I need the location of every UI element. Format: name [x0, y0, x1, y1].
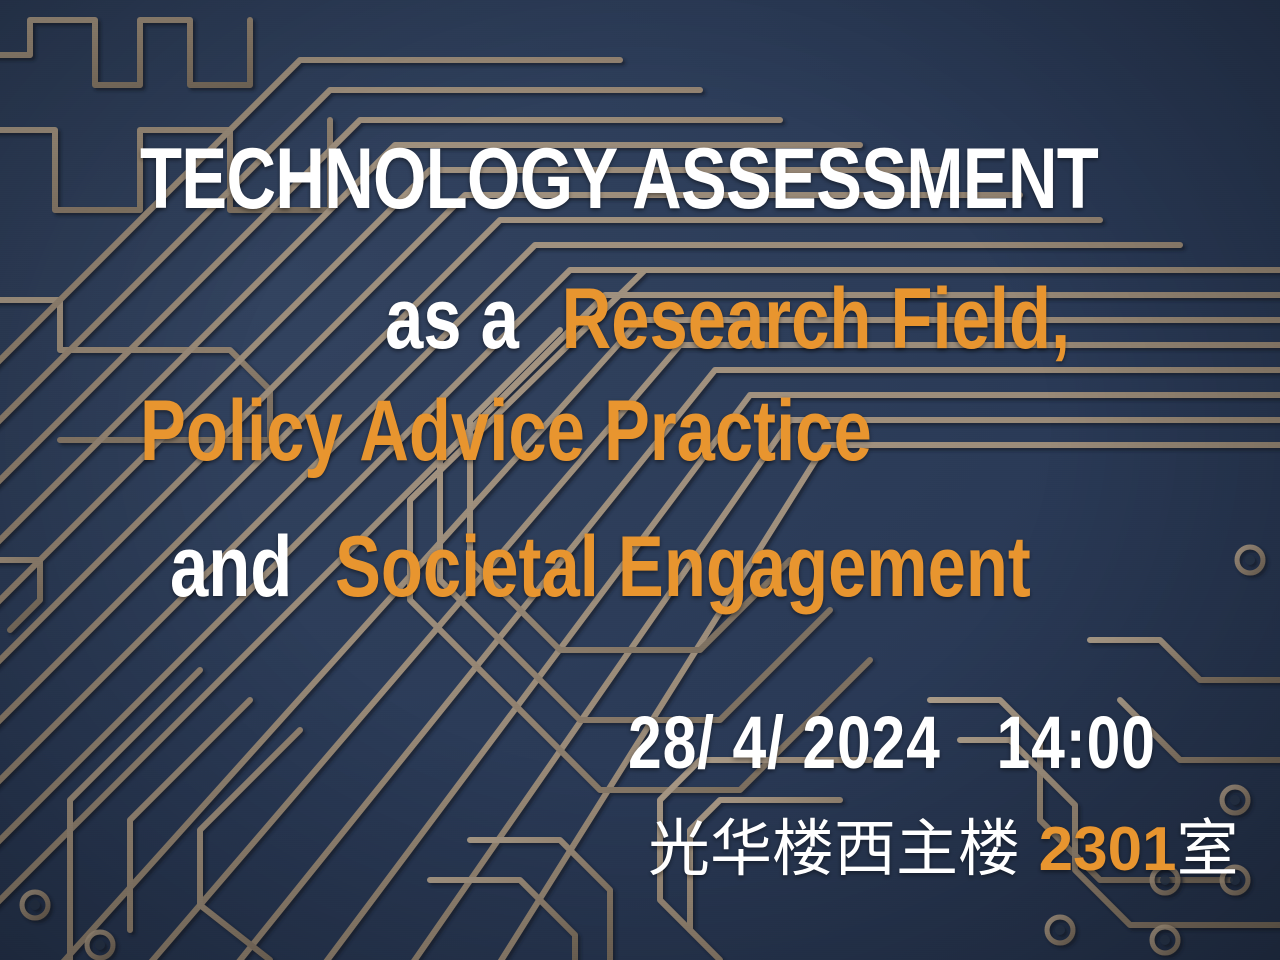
subtitle-accent-societal-engagement: Societal Engagement	[335, 519, 1031, 615]
event-time: 14:00	[997, 701, 1156, 784]
poster-headline: TECHNOLOGY ASSESSMENT	[140, 130, 1098, 229]
subtitle-line-2: Policy Advice Practice	[140, 382, 872, 481]
venue-room-number: 2301	[1039, 815, 1177, 884]
subtitle-prefix-as-a: as a	[385, 271, 519, 367]
poster-content: TECHNOLOGY ASSESSMENT as aResearch Field…	[0, 0, 1280, 960]
venue-room-suffix: 室	[1177, 812, 1239, 885]
event-datetime: 28/ 4/ 202414:00	[628, 700, 1156, 785]
venue-building: 光华楼西主楼	[648, 812, 1020, 885]
subtitle-accent-research-field: Research Field,	[562, 271, 1071, 367]
subtitle-line-1: as aResearch Field,	[385, 270, 1070, 369]
event-date: 28/ 4/ 2024	[628, 701, 941, 784]
subtitle-line-3: andSocietal Engagement	[170, 518, 1031, 617]
event-poster: TECHNOLOGY ASSESSMENT as aResearch Field…	[0, 0, 1280, 960]
subtitle-prefix-and: and	[170, 519, 292, 615]
subtitle-accent-policy-advice-practice: Policy Advice Practice	[140, 383, 872, 479]
event-venue: 光华楼西主楼2301室	[648, 798, 1239, 888]
